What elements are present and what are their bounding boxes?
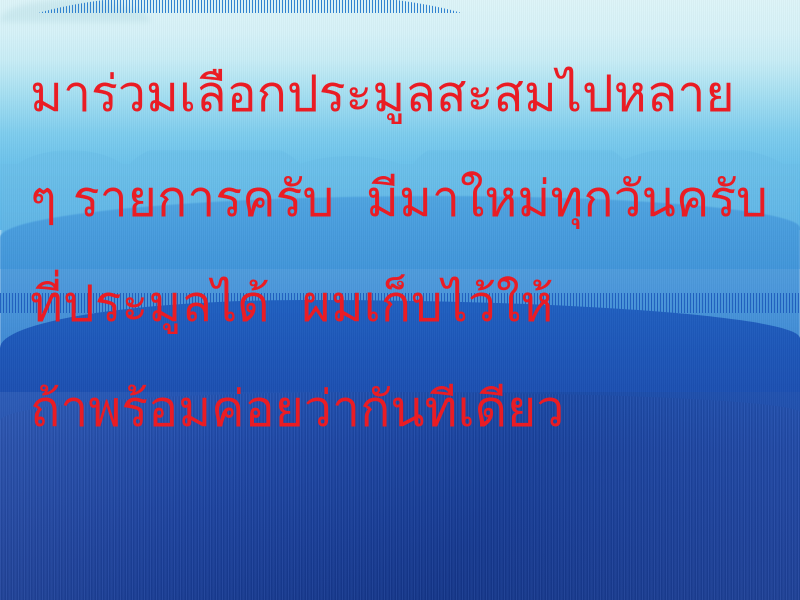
caption-line-1: มาร่วมเลือกประมูลสะสมไปหลาย — [30, 42, 790, 147]
caption-line-3: ที่ประมูลได้ ผมเก็บไว้ให้ — [30, 252, 790, 357]
caption-line-2: ๆ รายการครับ มีมาใหม่ทุกวันครับ — [30, 147, 790, 252]
caption-overlay: มาร่วมเลือกประมูลสะสมไปหลาย ๆ รายการครับ… — [30, 42, 790, 462]
caption-line-4: ถ้าพร้อมค่อยว่ากันทีเดียว — [30, 357, 790, 462]
photo-scene: มาร่วมเลือกประมูลสะสมไปหลาย ๆ รายการครับ… — [0, 0, 800, 600]
